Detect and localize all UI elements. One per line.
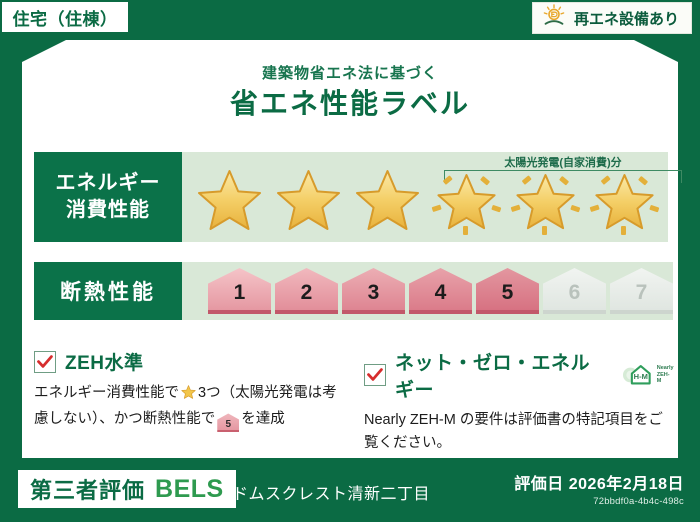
zeh-body-part1: エネルギー消費性能で	[34, 385, 179, 401]
insulation-level-badge: 1	[208, 268, 271, 314]
bels-name-label: BELS	[155, 475, 224, 504]
zeh-standard-title: ZEH水準	[65, 348, 144, 375]
net-zero-energy-note: ネット・ゼロ・エネルギー H-M Nearly ZEH-M Nearly ZEH…	[344, 348, 674, 456]
inline-star-icon	[180, 388, 197, 404]
star-icon-solar	[508, 164, 583, 236]
evaluation-id: 72bbdf0a-4b4c-498c	[514, 496, 684, 507]
label-subtitle: 建築物省エネ法に基づく	[0, 62, 700, 83]
net-zero-body: Nearly ZEH-M の要件は評価書の特記項目をご覧ください。	[364, 409, 674, 456]
star-icon	[350, 164, 425, 236]
net-zero-title: ネット・ゼロ・エネルギー	[395, 348, 607, 402]
insulation-level-badge: 6	[543, 268, 606, 314]
insulation-level-badge: 7	[610, 268, 673, 314]
energy-label-line1: エネルギー	[56, 170, 161, 197]
zeh-standard-note: ZEH水準 エネルギー消費性能で 3つ（太陽光発電は考慮しない）、かつ断熱性能で…	[34, 348, 344, 456]
bels-prefix-label: 第三者評価	[30, 473, 145, 505]
zeh-standard-header: ZEH水準	[34, 348, 344, 375]
evaluation-info: 評価日 2026年2月18日 72bbdf0a-4b4c-498c	[514, 470, 684, 507]
evaluation-date: 評価日 2026年2月18日	[514, 470, 684, 494]
zeh-m-caption-line1: Nearly	[657, 365, 674, 371]
building-name: ドムスクレスト清新二丁目	[232, 480, 430, 504]
bels-certification-badge: 第三者評価 BELS	[18, 470, 236, 508]
insulation-level-badge: 5	[476, 268, 539, 314]
star-icon	[192, 164, 267, 236]
renewable-equipment-label: 再エネ設備あり	[574, 8, 679, 29]
energy-performance-label: エネルギー 消費性能	[34, 152, 182, 242]
page-title: 省エネ性能ラベル	[0, 82, 700, 122]
zeh-body-part3: を達成	[241, 411, 285, 427]
insulation-level-badge: 4	[409, 268, 472, 314]
insulation-levels-area: 1234567	[182, 262, 673, 320]
zeh-standard-body: エネルギー消費性能で 3つ（太陽光発電は考慮しない）、かつ断熱性能で5を達成	[34, 382, 344, 432]
check-icon	[364, 364, 386, 386]
energy-label-line2: 消費性能	[56, 197, 161, 224]
notes-section: ZEH水準 エネルギー消費性能で 3つ（太陽光発電は考慮しない）、かつ断熱性能で…	[34, 348, 674, 456]
net-zero-header: ネット・ゼロ・エネルギー H-M Nearly ZEH-M	[364, 348, 674, 402]
insulation-performance-label: 断熱性能	[34, 262, 182, 320]
insulation-level-badge: 3	[342, 268, 405, 314]
zeh-m-caption-line2: ZEH-M	[657, 372, 670, 385]
housing-type-label: 住宅（住棟）	[13, 5, 118, 30]
energy-performance-row: エネルギー 消費性能 太陽光発電(自家消費)分	[34, 152, 668, 242]
star-icon-solar	[587, 164, 662, 236]
zeh-body-star-value: 3つ（太陽光発電	[198, 385, 308, 401]
star-icon	[271, 164, 346, 236]
insulation-performance-row: 断熱性能 1234567	[34, 262, 668, 320]
zeh-m-logo: H-M Nearly ZEH-M	[620, 362, 674, 388]
insulation-level-badge: 2	[275, 268, 338, 314]
housing-type-badge: 住宅（住棟）	[0, 0, 130, 34]
bels-energy-label: 住宅（住棟） 再エネ設備あり 建築物省エネ法に基づく 省エネ性能ラベル	[0, 0, 700, 522]
solar-sun-icon	[541, 4, 567, 33]
energy-star-rating	[192, 164, 662, 236]
footer-bar: 第三者評価 BELS ドムスクレスト清新二丁目 評価日 2026年2月18日 7…	[0, 458, 700, 522]
zeh-m-logo-caption: Nearly ZEH-M	[657, 365, 674, 386]
energy-stars-area: 太陽光発電(自家消費)分	[182, 152, 668, 242]
svg-text:H-M: H-M	[634, 372, 648, 381]
star-icon-solar	[429, 164, 504, 236]
renewable-equipment-badge: 再エネ設備あり	[532, 2, 692, 34]
inline-insulation-badge: 5	[217, 413, 239, 432]
check-icon	[34, 351, 56, 373]
